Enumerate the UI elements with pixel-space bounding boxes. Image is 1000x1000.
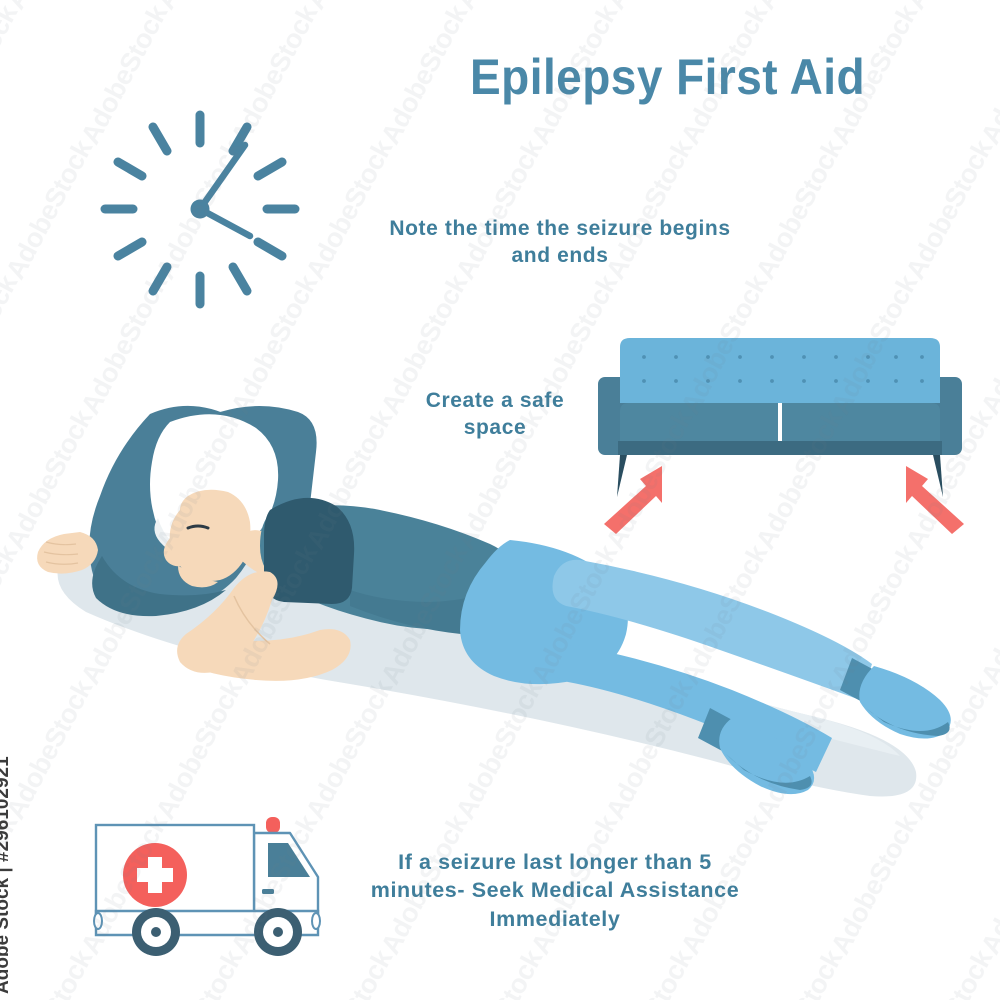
watermark-tile: AdobeStock — [900, 135, 999, 284]
stock-credit-label: Adobe Stock | #296102921 — [0, 756, 14, 994]
watermark-tile: AdobeStock — [0, 135, 99, 284]
shoe-upper — [859, 666, 951, 739]
clock-minute-hand — [200, 145, 245, 209]
bumper-front — [312, 913, 320, 929]
watermark-tile: AdobeStock — [750, 135, 849, 284]
watermark-tile: AdobeStock — [600, 945, 699, 1000]
person-recovery-position — [20, 400, 960, 840]
watermark-tile: AdobeStock — [750, 945, 849, 1000]
wheel-front — [254, 908, 302, 956]
sofa-back — [620, 338, 940, 403]
watermark-tile: AdobeStock — [450, 0, 549, 15]
clock-illustration — [95, 105, 315, 370]
watermark-tile: AdobeStock — [300, 0, 399, 15]
watermark-tile: AdobeStock — [0, 0, 24, 149]
cab-door-handle — [262, 889, 274, 894]
ambulance-illustration — [82, 815, 342, 960]
bumper-rear — [94, 913, 102, 929]
watermark-tile: AdobeStock — [375, 0, 474, 149]
watermark-tile: AdobeStock — [0, 270, 24, 419]
watermark-tile: AdobeStock — [900, 945, 999, 1000]
watermark-tile: AdobeStock — [450, 945, 549, 1000]
caption-seek-medical-help: If a seizure last longer than 5 minutes-… — [355, 848, 755, 933]
watermark-tile: AdobeStock — [975, 540, 1000, 689]
caption-create-safe-space: Create a safe space — [400, 388, 590, 442]
watermark-tile: AdobeStock — [0, 0, 99, 15]
wheel-rear — [132, 908, 180, 956]
clock-center-dot — [191, 200, 210, 219]
siren-light — [266, 817, 280, 833]
sleeve — [264, 498, 354, 604]
watermark-tile: AdobeStock — [900, 0, 999, 15]
face — [170, 490, 251, 581]
watermark-tile: AdobeStock — [150, 0, 249, 15]
poster-canvas: Epilepsy First Aid Note the time the sei… — [0, 0, 1000, 1000]
watermark-tile: AdobeStock — [975, 0, 1000, 149]
caption-note-time: Note the time the seizure begins and end… — [370, 216, 750, 270]
page-title: Epilepsy First Aid — [470, 52, 912, 102]
watermark-tile: AdobeStock — [600, 0, 699, 15]
watermark-tile: AdobeStock — [975, 810, 1000, 959]
watermark-tile: AdobeStock — [750, 0, 849, 15]
